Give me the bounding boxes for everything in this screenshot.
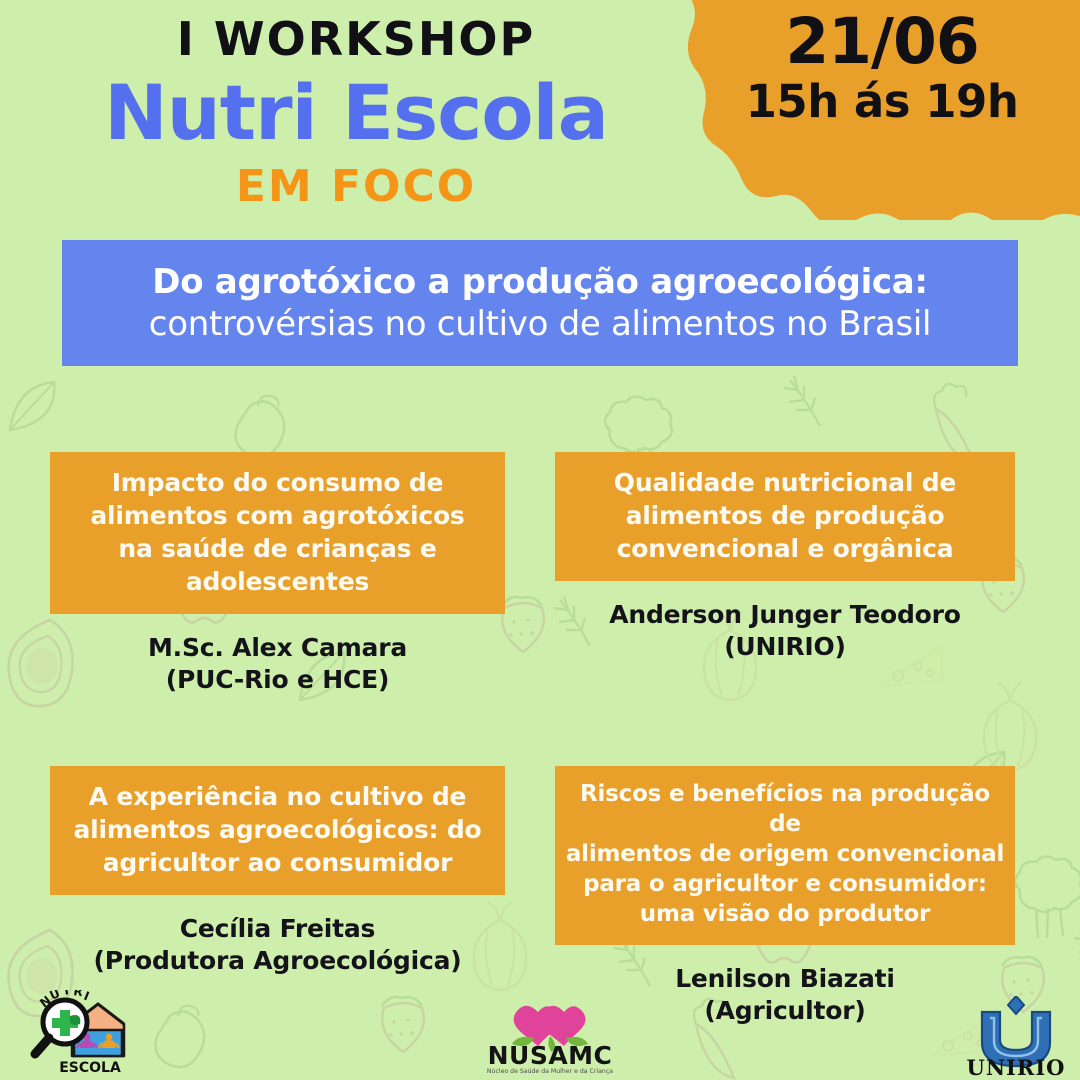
talk-title-line: alimentos agroecológicos: do bbox=[60, 813, 495, 846]
talk-title-line: alimentos de origem convencional bbox=[565, 840, 1005, 870]
talks-row-1: Impacto do consumo de alimentos com agro… bbox=[0, 452, 1080, 696]
speaker-name: Cecília Freitas bbox=[180, 914, 375, 943]
talk-title-box-2: Qualidade nutricional de alimentos de pr… bbox=[555, 452, 1015, 581]
talk-title-line: para o agricultor e consumidor: bbox=[565, 870, 1005, 900]
unirio-logo: UNIRIO bbox=[960, 996, 1072, 1076]
talks-row-spacer bbox=[0, 696, 1080, 766]
footer-logo-bar: N U T R I ESCOLA NUSAMC Núcleo de bbox=[0, 988, 1080, 1080]
speaker-affiliation: (PUC-Rio e HCE) bbox=[50, 664, 505, 696]
talk-title-line: Qualidade nutricional de bbox=[565, 466, 1005, 499]
talk-title-line: adolescentes bbox=[60, 565, 495, 598]
nusamc-wordmark: NUSAMC bbox=[488, 1041, 613, 1070]
nusamc-subtitle: Núcleo de Saúde da Mulher e da Criança bbox=[487, 1067, 613, 1075]
event-time: 15h ás 19h bbox=[702, 76, 1062, 128]
talk-speaker-1: M.Sc. Alex Camara (PUC-Rio e HCE) bbox=[50, 632, 505, 696]
speaker-name: M.Sc. Alex Camara bbox=[148, 633, 407, 662]
speaker-name: Anderson Junger Teodoro bbox=[609, 600, 961, 629]
talk-card-2: Qualidade nutricional de alimentos de pr… bbox=[540, 452, 1080, 696]
talk-title-line: convencional e orgânica bbox=[565, 532, 1005, 565]
talk-title-box-1: Impacto do consumo de alimentos com agro… bbox=[50, 452, 505, 614]
event-brand-name: Nutri Escola bbox=[0, 69, 712, 156]
talk-card-1: Impacto do consumo de alimentos com agro… bbox=[0, 452, 540, 696]
talk-title-box-3: A experiência no cultivo de alimentos ag… bbox=[50, 766, 505, 895]
talk-title-line: na saúde de crianças e bbox=[60, 532, 495, 565]
speaker-affiliation: (Produtora Agroecológica) bbox=[50, 945, 505, 977]
speaker-affiliation: (UNIRIO) bbox=[555, 631, 1015, 663]
talk-title-box-4: Riscos e benefícios na produção de alime… bbox=[555, 766, 1015, 945]
date-badge-text: 21/06 15h ás 19h bbox=[702, 10, 1062, 128]
workshop-label: I WORKSHOP bbox=[0, 14, 712, 65]
talk-title-line: alimentos de produção bbox=[565, 499, 1005, 532]
main-title-banner: Do agrotóxico a produção agroecológica: … bbox=[62, 240, 1018, 366]
svg-text:I: I bbox=[82, 990, 91, 1003]
main-title-line1: Do agrotóxico a produção agroecológica: bbox=[152, 262, 927, 303]
event-date: 21/06 bbox=[702, 10, 1062, 74]
main-title-line2: controvérsias no cultivo de alimentos no… bbox=[149, 303, 931, 346]
event-poster: 21/06 15h ás 19h I WORKSHOP Nutri Escola… bbox=[0, 0, 1080, 1080]
event-focus-label: EM FOCO bbox=[0, 162, 712, 213]
unirio-wordmark: UNIRIO bbox=[967, 1055, 1066, 1076]
nutri-escola-logo: N U T R I ESCOLA bbox=[18, 990, 138, 1076]
poster-header: I WORKSHOP Nutri Escola EM FOCO bbox=[0, 14, 712, 213]
talk-title-line: Impacto do consumo de bbox=[60, 466, 495, 499]
talks-grid: Impacto do consumo de alimentos com agro… bbox=[0, 452, 1080, 1027]
svg-text:R: R bbox=[73, 990, 84, 999]
nusamc-logo: NUSAMC Núcleo de Saúde da Mulher e da Cr… bbox=[480, 994, 620, 1076]
escola-label: ESCOLA bbox=[59, 1060, 121, 1076]
talk-title-line: alimentos com agrotóxicos bbox=[60, 499, 495, 532]
talk-title-line: agricultor ao consumidor bbox=[60, 846, 495, 879]
talk-title-line: Riscos e benefícios na produção de bbox=[565, 780, 1005, 840]
talk-title-line: A experiência no cultivo de bbox=[60, 780, 495, 813]
talk-title-line: uma visão do produtor bbox=[565, 900, 1005, 930]
svg-text:T: T bbox=[61, 990, 72, 998]
talk-speaker-2: Anderson Junger Teodoro (UNIRIO) bbox=[555, 599, 1015, 663]
talk-speaker-3: Cecília Freitas (Produtora Agroecológica… bbox=[50, 913, 505, 977]
